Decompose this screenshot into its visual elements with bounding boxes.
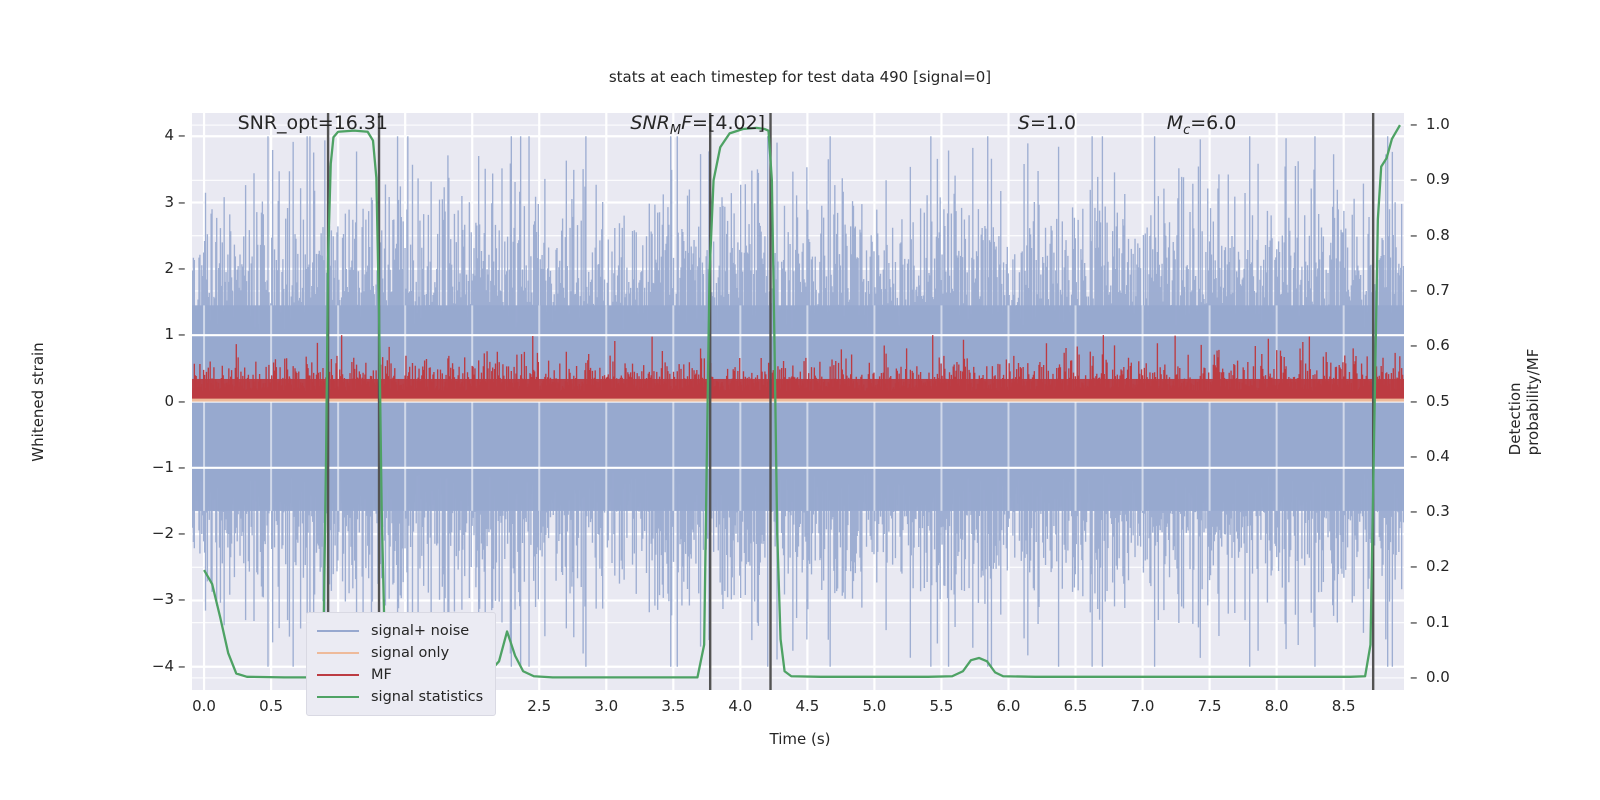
legend-swatch-icon [317, 630, 359, 632]
legend-item[interactable]: MF [317, 664, 483, 686]
x-tick-label: 5.0 [844, 697, 904, 715]
y2-tick-label: 0.9 [1426, 170, 1450, 188]
y2-tick-label: 0.1 [1426, 613, 1450, 631]
y2-tick-mark: – [1410, 668, 1418, 686]
y2-tick-mark: – [1410, 447, 1418, 465]
x-tick-label: 3.0 [576, 697, 636, 715]
x-tick-label: 6.0 [978, 697, 1038, 715]
y-tick-label: −4 [130, 657, 174, 675]
plot-area[interactable] [192, 113, 1404, 690]
annotation-snr-mf: SNRMF=[4.02] [630, 112, 765, 138]
x-tick-label: 4.0 [710, 697, 770, 715]
y-tick-mark: – [178, 325, 186, 343]
annotation-chirp-mass: Mc=6.0 [1167, 112, 1237, 138]
x-tick-label: 8.5 [1314, 697, 1374, 715]
y-tick-mark: – [178, 259, 186, 277]
y2-tick-mark: – [1410, 557, 1418, 575]
x-tick-label: 2.5 [509, 697, 569, 715]
y2-tick-mark: – [1410, 502, 1418, 520]
y2-tick-label: 0.6 [1426, 336, 1450, 354]
y2-tick-label: 0.8 [1426, 226, 1450, 244]
y2-tick-mark: – [1410, 336, 1418, 354]
legend[interactable]: signal+ noisesignal onlyMFsignal statist… [306, 612, 496, 716]
x-tick-label: 7.0 [1113, 697, 1173, 715]
legend-item[interactable]: signal only [317, 642, 483, 664]
x-tick-label: 0.0 [174, 697, 234, 715]
y-tick-label: 0 [130, 392, 174, 410]
y-tick-mark: – [178, 193, 186, 211]
x-tick-label: 0.5 [241, 697, 301, 715]
legend-swatch-icon [317, 674, 359, 676]
y-tick-mark: – [178, 392, 186, 410]
annotation-signal-flag: S=1.0 [1018, 112, 1076, 134]
x-tick-label: 4.5 [777, 697, 837, 715]
y-tick-label: 2 [130, 259, 174, 277]
y-tick-mark: – [178, 657, 186, 675]
y2-tick-label: 0.7 [1426, 281, 1450, 299]
y-tick-mark: – [178, 458, 186, 476]
y-tick-label: 4 [130, 126, 174, 144]
x-tick-label: 7.5 [1180, 697, 1240, 715]
legend-label: signal+ noise [371, 623, 469, 639]
y-tick-label: 1 [130, 325, 174, 343]
y2-tick-label: 0.0 [1426, 668, 1450, 686]
legend-label: signal statistics [371, 689, 483, 705]
y2-tick-label: 1.0 [1426, 115, 1450, 133]
y-tick-mark: – [178, 126, 186, 144]
y-tick-mark: – [178, 590, 186, 608]
x-tick-label: 5.5 [911, 697, 971, 715]
legend-item[interactable]: signal statistics [317, 686, 483, 708]
legend-label: signal only [371, 645, 449, 661]
figure: stats at each timestep for test data 490… [0, 0, 1600, 800]
y2-tick-label: 0.2 [1426, 557, 1450, 575]
y2-tick-label: 0.5 [1426, 392, 1450, 410]
y2-tick-mark: – [1410, 170, 1418, 188]
y2-tick-mark: – [1410, 226, 1418, 244]
legend-swatch-icon [317, 696, 359, 698]
y-axis-label: Whitened strain [29, 342, 47, 461]
y2-tick-mark: – [1410, 281, 1418, 299]
y-tick-mark: – [178, 524, 186, 542]
annotation-snr-opt: SNR_opt=16.31 [238, 112, 388, 134]
y-tick-label: −2 [130, 524, 174, 542]
y2-tick-label: 0.3 [1426, 502, 1450, 520]
x-tick-label: 8.0 [1247, 697, 1307, 715]
chart-title: stats at each timestep for test data 490… [0, 68, 1600, 86]
y-tick-label: −1 [130, 458, 174, 476]
y2-tick-mark: – [1410, 392, 1418, 410]
chart-canvas [192, 113, 1404, 690]
y-tick-label: 3 [130, 193, 174, 211]
legend-swatch-icon [317, 652, 359, 654]
x-tick-label: 6.5 [1046, 697, 1106, 715]
legend-item[interactable]: signal+ noise [317, 620, 483, 642]
x-axis-label: Time (s) [0, 730, 1600, 748]
y-tick-label: −3 [130, 590, 174, 608]
y2-tick-mark: – [1410, 115, 1418, 133]
legend-label: MF [371, 667, 392, 683]
y2-tick-mark: – [1410, 613, 1418, 631]
x-tick-label: 3.5 [643, 697, 703, 715]
y2-tick-label: 0.4 [1426, 447, 1450, 465]
y2-axis-label: Detection probability/MF [1506, 348, 1542, 455]
